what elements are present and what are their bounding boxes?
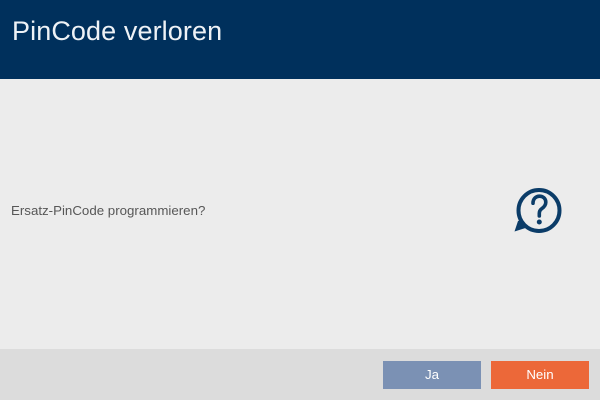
yes-button[interactable]: Ja xyxy=(383,361,481,389)
question-speech-bubble-icon xyxy=(509,185,565,241)
dialog-content: Ersatz-PinCode programmieren? xyxy=(0,79,600,349)
dialog-window: PinCode verloren Ersatz-PinCode programm… xyxy=(0,0,600,400)
dialog-button-bar: Ja Nein xyxy=(0,349,600,400)
no-button[interactable]: Nein xyxy=(491,361,589,389)
dialog-title: PinCode verloren xyxy=(12,14,222,48)
dialog-title-bar: PinCode verloren xyxy=(0,0,600,79)
dialog-message: Ersatz-PinCode programmieren? xyxy=(11,203,205,219)
